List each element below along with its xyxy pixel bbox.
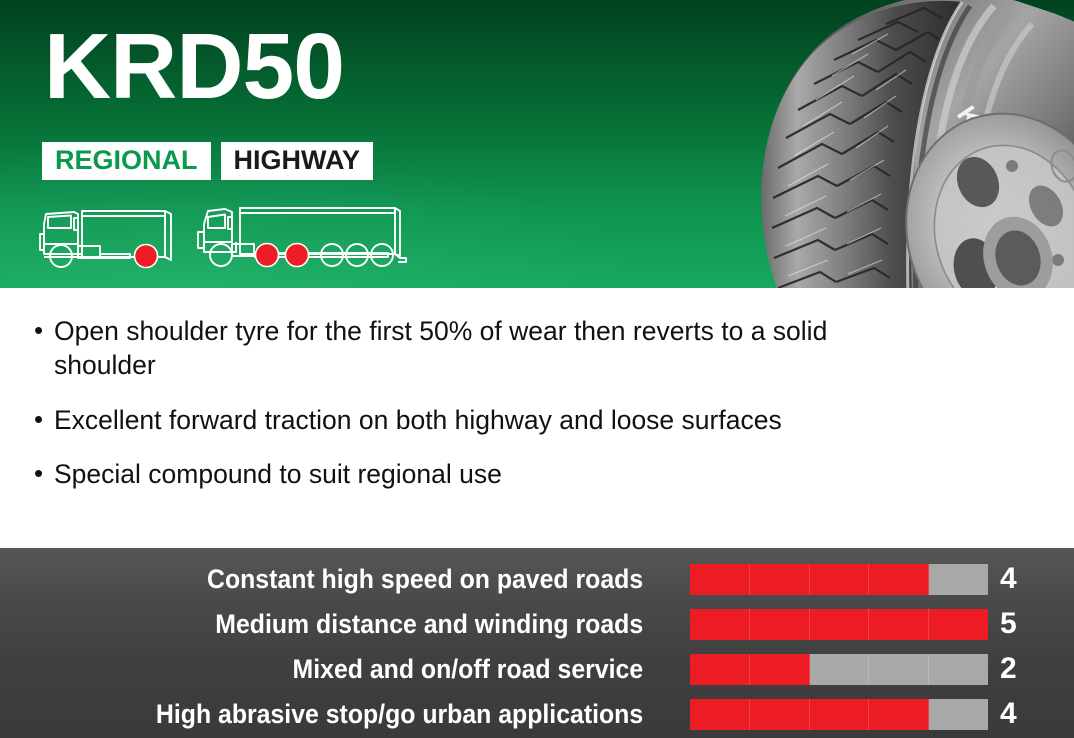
list-item: • Excellent forward traction on both hig… xyxy=(34,403,934,437)
rating-segment xyxy=(869,609,929,640)
tire-illustration: KRD50 xyxy=(662,0,1074,288)
rating-row: High abrasive stop/go urban applications… xyxy=(0,694,1074,734)
rating-segment xyxy=(929,564,988,595)
rating-segment xyxy=(750,699,810,730)
rating-value: 4 xyxy=(1000,699,1028,729)
list-item: • Special compound to suit regional use xyxy=(34,457,934,491)
tire-product-image: KRD50 xyxy=(662,0,1074,288)
rating-bar xyxy=(690,699,988,730)
feature-list: • Open shoulder tyre for the first 50% o… xyxy=(0,288,1074,548)
list-item: • Open shoulder tyre for the first 50% o… xyxy=(34,314,934,383)
rating-segment xyxy=(929,654,988,685)
rating-row: Medium distance and winding roads5 xyxy=(0,604,1074,644)
rating-segment xyxy=(750,564,810,595)
badge-regional-label: REGIONAL xyxy=(55,147,198,174)
rating-value: 4 xyxy=(1000,564,1028,594)
rating-segment xyxy=(810,699,870,730)
page-title: KRD50 xyxy=(44,16,344,116)
rating-bar xyxy=(690,564,988,595)
category-badges: REGIONAL HIGHWAY xyxy=(42,142,373,180)
rating-value: 2 xyxy=(1000,654,1028,684)
header-banner: KRD50 REGIONAL HIGHWAY xyxy=(0,0,1074,288)
rating-segment xyxy=(869,564,929,595)
rigid-truck-icon xyxy=(34,200,182,274)
rating-bar xyxy=(690,654,988,685)
rating-segment xyxy=(810,654,870,685)
rating-segment xyxy=(929,609,988,640)
rating-segment xyxy=(869,699,929,730)
rating-segment xyxy=(690,699,750,730)
rating-value: 5 xyxy=(1000,609,1028,639)
rating-segment xyxy=(690,564,750,595)
rating-label: High abrasive stop/go urban applications xyxy=(52,701,645,728)
badge-highway: HIGHWAY xyxy=(221,142,374,180)
rating-segment xyxy=(690,654,750,685)
rating-segment xyxy=(929,699,988,730)
rating-row: Mixed and on/off road service2 xyxy=(0,649,1074,689)
rating-segment xyxy=(810,609,870,640)
badge-regional: REGIONAL xyxy=(42,142,211,180)
feature-text: Open shoulder tyre for the first 50% of … xyxy=(54,314,934,383)
rating-segment xyxy=(810,564,870,595)
bullet-dot-icon: • xyxy=(34,403,54,437)
rating-label: Constant high speed on paved roads xyxy=(52,566,645,593)
feature-text: Special compound to suit regional use xyxy=(54,457,934,491)
rating-segment xyxy=(750,609,810,640)
badge-highway-label: HIGHWAY xyxy=(234,147,361,174)
rating-bar xyxy=(690,609,988,640)
feature-text: Excellent forward traction on both highw… xyxy=(54,403,934,437)
rating-row: Constant high speed on paved roads4 xyxy=(0,559,1074,599)
rating-segment xyxy=(750,654,810,685)
rating-segment xyxy=(869,654,929,685)
suitability-rating-chart: Constant high speed on paved roads4Mediu… xyxy=(0,548,1074,738)
rating-segment xyxy=(690,609,750,640)
articulated-truck-icon xyxy=(192,196,414,274)
rating-label: Medium distance and winding roads xyxy=(52,611,645,638)
rating-label: Mixed and on/off road service xyxy=(52,656,645,683)
application-truck-icons xyxy=(34,196,414,274)
bullet-dot-icon: • xyxy=(34,457,54,491)
bullet-dot-icon: • xyxy=(34,314,54,348)
product-spec-sheet: KRD50 REGIONAL HIGHWAY xyxy=(0,0,1074,738)
